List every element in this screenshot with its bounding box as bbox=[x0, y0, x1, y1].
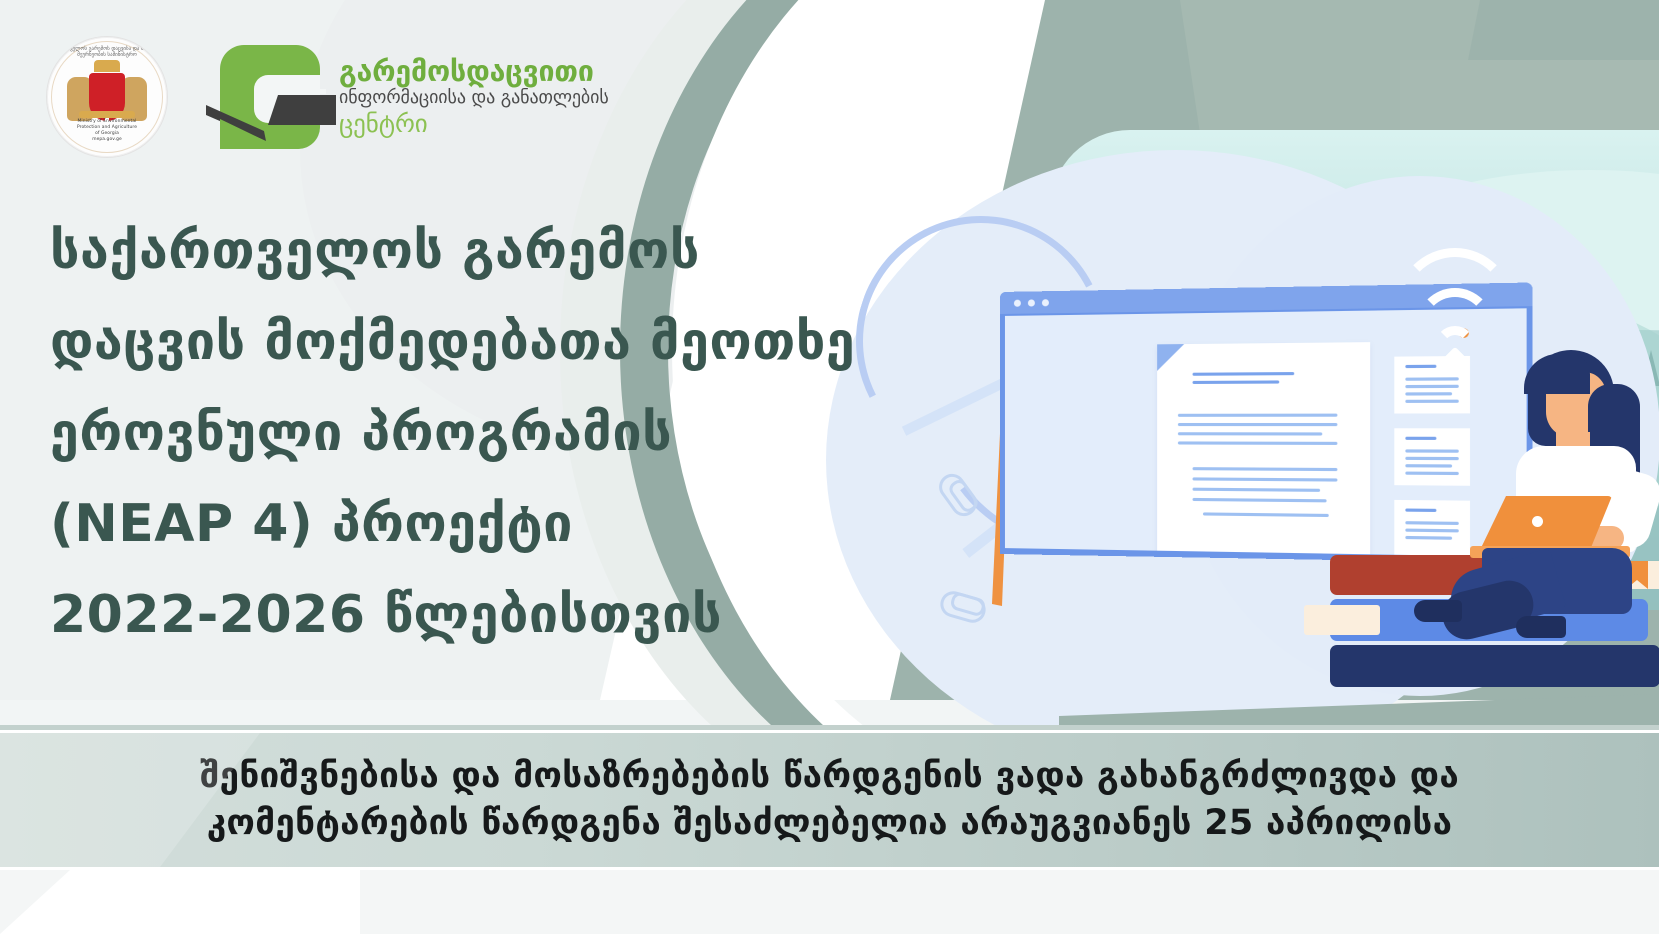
emblem-caption-line: mepa.gov.ge bbox=[47, 137, 167, 143]
center-logo-mark bbox=[214, 45, 326, 149]
banner-light-wedge bbox=[0, 733, 420, 867]
environmental-information-education-center-logo: გარემოსდაცვითი ინფორმაციისა და განათლები… bbox=[214, 45, 609, 149]
logo-slot bbox=[296, 89, 326, 94]
logo-row: საქართველოს გარემოს დაცვისა და სოფლის მე… bbox=[46, 36, 609, 158]
center-logo-line3: ცენტრი bbox=[339, 110, 609, 138]
emblem-arc-text: საქართველოს გარემოს დაცვისა და სოფლის მე… bbox=[47, 46, 167, 58]
book-navy bbox=[1330, 645, 1659, 687]
document-page bbox=[1157, 342, 1370, 557]
window-dot-icon bbox=[1042, 299, 1049, 306]
page-title: საქართველოს გარემოს დაცვის მოქმედებათა მ… bbox=[50, 206, 770, 661]
footer-band bbox=[0, 870, 1659, 934]
book-pages bbox=[1304, 605, 1380, 635]
headline-line-5: 2022-2026 წლებისთვის bbox=[50, 570, 770, 661]
logo-book-dark-right bbox=[268, 95, 336, 125]
center-logo-text: გარემოსდაცვითი ინფორმაციისა და განათლები… bbox=[339, 57, 609, 137]
headline-line-2: დაცვის მოქმედებათა მეოთხე bbox=[50, 297, 770, 388]
window-dot-icon bbox=[1028, 299, 1035, 306]
poster-root: საქართველოს გარემოს დაცვისა და სოფლის მე… bbox=[0, 0, 1659, 934]
headline-line-4: (NEAP 4) პროექტი bbox=[50, 479, 770, 570]
center-logo-line1: გარემოსდაცვითი bbox=[339, 57, 609, 87]
document-page-fold bbox=[1157, 344, 1184, 371]
laptop-lid bbox=[1480, 496, 1612, 550]
emblem-ribbon bbox=[79, 111, 135, 118]
woman-shoe-right bbox=[1516, 616, 1566, 638]
banner-line-1: შენიშვნებისა და მოსაზრებების წარდგენის ვ… bbox=[200, 754, 1459, 799]
logo-book-green-right bbox=[272, 125, 320, 149]
headline-line-3: ეროვნული პროგრამის bbox=[50, 388, 770, 479]
banner-edge-top bbox=[0, 725, 1659, 730]
footer-band-wedge bbox=[0, 870, 360, 934]
deadline-banner: შენიშვნებისა და მოსაზრებების წარდგენის ვ… bbox=[0, 730, 1659, 870]
window-dot-icon bbox=[1014, 300, 1021, 307]
center-logo-line2: ინფორმაციისა და განათლების bbox=[339, 88, 609, 109]
woman-shoe-left bbox=[1414, 600, 1462, 622]
woman-hair-front bbox=[1524, 354, 1590, 394]
emblem-crown bbox=[94, 60, 120, 72]
ministry-emblem: საქართველოს გარემოს დაცვისა და სოფლის მე… bbox=[46, 36, 168, 158]
banner-line-2: კომენტარების წარდგენა შესაძლებელია არაუგ… bbox=[207, 801, 1453, 846]
emblem-caption: Ministry of Environmental Protection and… bbox=[47, 119, 167, 143]
headline-line-1: საქართველოს გარემოს bbox=[50, 206, 770, 297]
laptop-logo bbox=[1532, 516, 1543, 527]
woman-with-laptop bbox=[1420, 350, 1659, 640]
